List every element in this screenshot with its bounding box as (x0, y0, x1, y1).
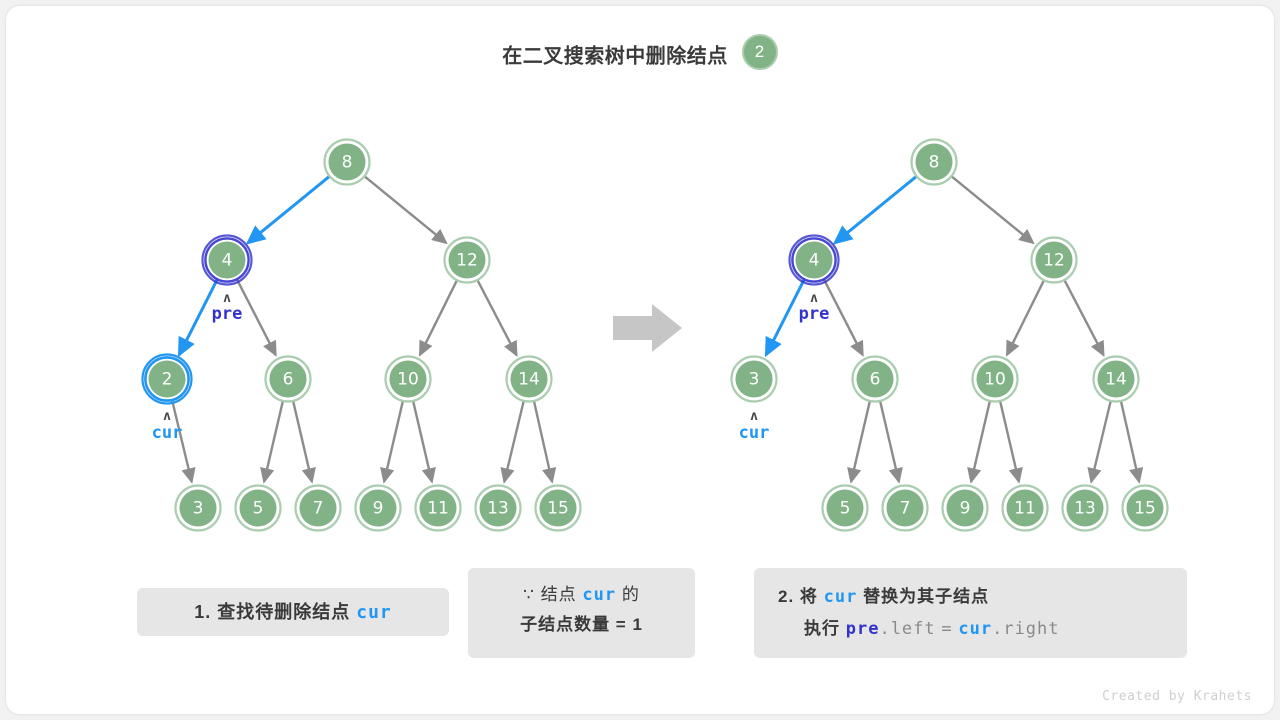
tree-node-label: 3 (193, 499, 204, 519)
tree-node-label: 6 (870, 370, 881, 390)
tree-node-label: 7 (313, 499, 324, 519)
tree-edge-L8-to-L4 (248, 176, 330, 243)
tree-edge-R10-to-R11 (1000, 400, 1019, 481)
tree-node-label: 4 (222, 251, 233, 271)
tree-node-15: 15 (536, 486, 581, 531)
caption-step-2: 2. 将 cur 替换为其子结点 执行 pre.left = cur.right (754, 568, 1187, 658)
step2-left-field: .left (879, 619, 935, 639)
tree-edge-L8-to-L12 (364, 176, 446, 243)
tree-node-8: 8 (912, 140, 957, 185)
tree-node-5: 5 (236, 486, 281, 531)
tree-node-9: 9 (356, 486, 401, 531)
tree-node-3: 3 (732, 357, 777, 402)
tree-node-9: 9 (943, 486, 988, 531)
tree-node-15: 15 (1123, 486, 1168, 531)
tree-node-4: 4 (790, 236, 839, 285)
pointer-caret-icon: ʌ (750, 409, 758, 424)
tree-edge-L12-to-L14 (477, 280, 516, 356)
tree-node-label: 14 (1105, 370, 1127, 390)
tree-node-label: 4 (809, 251, 820, 271)
tree-node-13: 13 (1063, 486, 1108, 531)
reason-line1-a: 结点 (541, 585, 577, 604)
tree-node-label: 15 (1134, 499, 1156, 519)
tree-edge-L10-to-L11 (413, 400, 432, 481)
tree-node-label: 9 (373, 499, 384, 519)
tree-edge-L6-to-L7 (293, 400, 312, 481)
tree-edge-L10-to-L9 (384, 400, 403, 481)
step2-cur-token: cur (824, 587, 858, 607)
tree-node-label: 5 (840, 499, 851, 519)
pointer-label-pre: pre (799, 304, 830, 324)
step2-line1-a: 2. 将 (778, 587, 818, 606)
tree-node-label: 7 (900, 499, 911, 519)
tree-edge-R4-to-R6 (824, 280, 863, 355)
pointer-caret-icon: ʌ (163, 409, 171, 424)
tree-edge-L14-to-L13 (504, 400, 524, 481)
credit-text: Created by Krahets (1102, 689, 1252, 704)
tree-node-label: 2 (162, 370, 173, 390)
tree-node-6: 6 (266, 357, 311, 402)
tree-node-6: 6 (853, 357, 898, 402)
tree-node-label: 5 (253, 499, 264, 519)
tree-node-5: 5 (823, 486, 868, 531)
reason-line1-b: 的 (622, 585, 640, 604)
tree-node-8: 8 (325, 140, 370, 185)
tree-node-12: 12 (1032, 238, 1077, 283)
tree-node-14: 14 (1094, 357, 1139, 402)
caption-step1-text: 1. 查找待删除结点 (194, 602, 350, 622)
tree-node-label: 10 (397, 370, 419, 390)
tree-node-13: 13 (476, 486, 521, 531)
right-tree-nodes: 8412361014579111315 (732, 140, 1168, 531)
step2-right-field: .right (992, 619, 1059, 639)
tree-node-2: 2 (143, 355, 192, 404)
step-arrow-icon (613, 304, 682, 352)
tree-edge-L6-to-L5 (264, 400, 283, 481)
caption-reason: ∵ 结点 cur 的 子结点数量 = 1 (468, 568, 695, 658)
caption-step-1: 1. 查找待删除结点 cur (137, 588, 449, 636)
tree-node-label: 12 (456, 251, 478, 271)
tree-node-label: 11 (427, 499, 449, 519)
tree-node-11: 11 (416, 486, 461, 531)
tree-edge-R8-to-R4 (835, 176, 917, 243)
tree-node-label: 14 (518, 370, 540, 390)
left-tree-edges (172, 176, 552, 482)
screenshot-root: 在二叉搜索树中删除结点2 84122610143579111315 841236… (0, 0, 1280, 720)
tree-edge-R12-to-R14 (1064, 280, 1103, 356)
tree-edge-R10-to-R9 (971, 400, 990, 481)
right-tree-edges (766, 176, 1139, 482)
tree-node-label: 8 (342, 153, 353, 173)
tree-edge-R6-to-R7 (880, 400, 899, 481)
reason-line2: 子结点数量 = 1 (468, 610, 695, 640)
tree-node-14: 14 (507, 357, 552, 402)
tree-node-label: 8 (929, 153, 940, 173)
tree-node-label: 10 (984, 370, 1006, 390)
tree-edge-L14-to-L15 (534, 400, 552, 481)
step2-cur-token-2: cur (958, 619, 992, 639)
step2-pre-token: pre (846, 619, 880, 639)
diagram-card: 在二叉搜索树中删除结点2 84122610143579111315 841236… (6, 6, 1274, 714)
tree-node-label: 13 (487, 499, 509, 519)
tree-node-7: 7 (296, 486, 341, 531)
tree-node-label: 12 (1043, 251, 1065, 271)
tree-node-3: 3 (176, 486, 221, 531)
tree-node-label: 13 (1074, 499, 1096, 519)
pointer-label-cur: cur (152, 423, 183, 443)
tree-edge-L4-to-L6 (237, 280, 276, 355)
tree-node-7: 7 (883, 486, 928, 531)
step2-line2-a: 执行 (804, 619, 840, 638)
caption-step1-cur-token: cur (356, 602, 392, 623)
tree-node-4: 4 (203, 236, 252, 285)
tree-node-label: 3 (749, 370, 760, 390)
pointer-label-pre: pre (212, 304, 243, 324)
because-symbol: ∵ (523, 585, 535, 605)
tree-edge-R6-to-R5 (851, 400, 870, 481)
tree-edge-R14-to-R13 (1091, 400, 1111, 481)
tree-edge-L12-to-L10 (420, 280, 457, 355)
tree-node-label: 9 (960, 499, 971, 519)
tree-node-label: 6 (283, 370, 294, 390)
tree-edge-R14-to-R15 (1121, 400, 1139, 481)
tree-node-label: 15 (547, 499, 569, 519)
tree-node-11: 11 (1003, 486, 1048, 531)
step2-equals: = (941, 619, 952, 639)
reason-cur-token: cur (582, 585, 616, 605)
step2-line1-b: 替换为其子结点 (863, 587, 989, 606)
tree-edge-R8-to-R12 (951, 176, 1033, 243)
tree-node-12: 12 (445, 238, 490, 283)
left-tree-nodes: 84122610143579111315 (143, 140, 581, 531)
tree-node-10: 10 (386, 357, 431, 402)
tree-node-10: 10 (973, 357, 1018, 402)
tree-node-label: 11 (1014, 499, 1036, 519)
pointer-label-cur: cur (739, 423, 770, 443)
tree-edge-R12-to-R10 (1007, 280, 1044, 355)
